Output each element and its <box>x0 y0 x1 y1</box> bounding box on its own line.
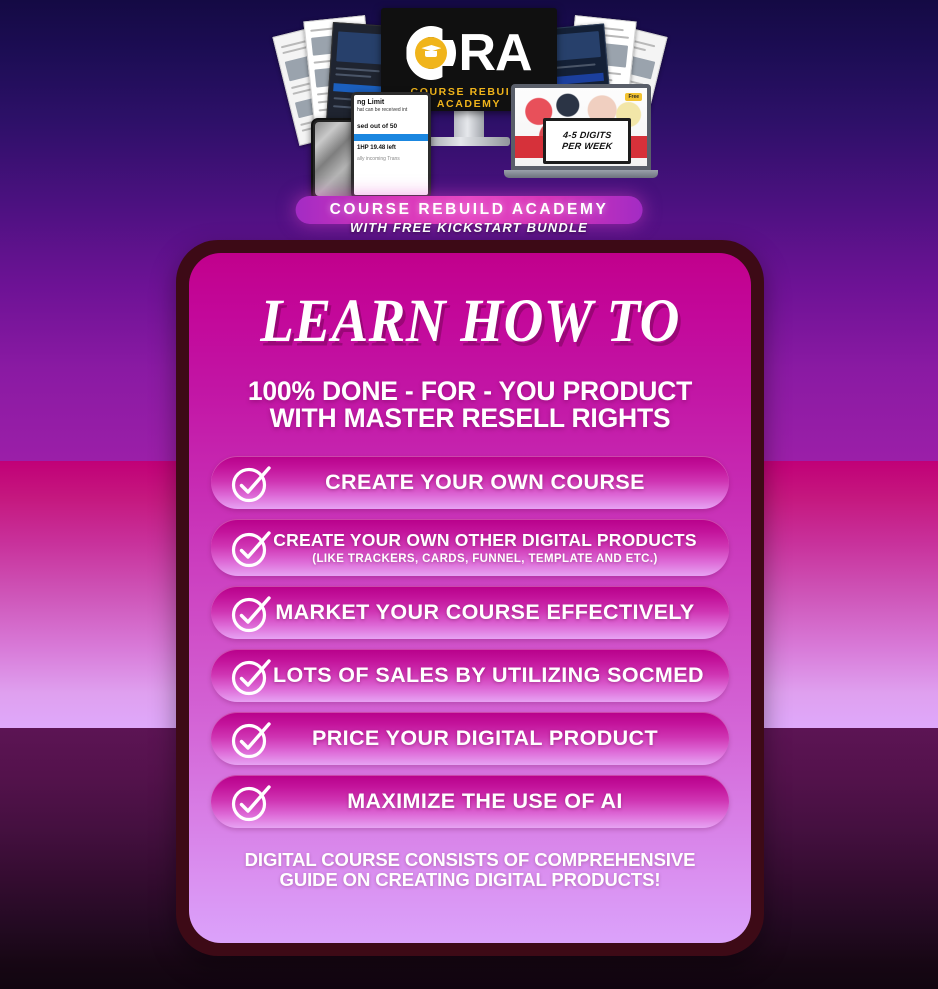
laptop-mockup: Free 4-5 DIGITS PER WEEK <box>511 84 651 178</box>
laptop-base <box>504 170 658 178</box>
laptop-free-tag: Free <box>625 93 642 101</box>
tablet-progress-bar <box>354 134 428 141</box>
list-item[interactable]: MAXIMIZE THE USE OF AI <box>211 775 729 828</box>
check-circle-icon <box>229 461 273 505</box>
list-item-label: CREATE YOUR OWN OTHER DIGITAL PRODUCTS (… <box>273 530 715 565</box>
check-circle-icon <box>229 717 273 761</box>
laptop-callout-card: 4-5 DIGITS PER WEEK <box>543 118 631 164</box>
list-item[interactable]: PRICE YOUR DIGITAL PRODUCT <box>211 712 729 765</box>
check-circle-icon <box>229 780 273 824</box>
logo-letter-c <box>406 26 456 80</box>
offer-card: LEARN HOW TO 100% DONE - FOR - YOU PRODU… <box>176 240 764 956</box>
card-footer-note: DIGITAL COURSE CONSISTS OF COMPREHENSIVE… <box>245 850 696 890</box>
list-item-label: MAXIMIZE THE USE OF AI <box>273 789 715 814</box>
brand-banner-title: COURSE REBUILD ACADEMY <box>330 201 609 218</box>
check-circle-icon <box>229 654 273 698</box>
tablet-mockup: ng Limit hat can be received int sed out… <box>351 92 431 198</box>
benefits-list: CREATE YOUR OWN COURSE CREATE YOUR OWN O… <box>211 456 729 828</box>
tablet-remaining: 1HP 19.48 left <box>354 143 428 153</box>
laptop-callout-line2: PER WEEK <box>561 141 613 152</box>
laptop-red-block-left <box>515 136 545 158</box>
list-item-sublabel: (LIKE TRACKERS, CARDS, FUNNEL, TEMPLATE … <box>273 553 697 565</box>
check-circle-icon <box>229 526 273 570</box>
list-item[interactable]: CREATE YOUR OWN OTHER DIGITAL PRODUCTS (… <box>211 519 729 576</box>
tablet-footer: ally incoming Trans <box>354 153 428 165</box>
monitor-stand-base <box>428 137 510 146</box>
footer-note-line-1: DIGITAL COURSE CONSISTS OF COMPREHENSIVE <box>245 849 696 870</box>
graduation-cap-icon <box>421 45 441 59</box>
monitor-stand-neck <box>454 111 484 137</box>
list-item[interactable]: CREATE YOUR OWN COURSE <box>211 456 729 509</box>
subheadline-line-1: 100% DONE - FOR - YOU PRODUCT <box>248 376 692 406</box>
list-item-label: PRICE YOUR DIGITAL PRODUCT <box>273 726 715 751</box>
check-circle-icon <box>229 591 273 635</box>
tablet-title: ng Limit <box>354 95 428 107</box>
logo-letters-ra: RA <box>458 26 531 80</box>
list-item[interactable]: MARKET YOUR COURSE EFFECTIVELY <box>211 586 729 639</box>
hero-section: RA COURSE REBUILD ACADEMY ng Limit hat c… <box>0 0 938 240</box>
brand-banner-subtitle: WITH FREE KICKSTART BUNDLE <box>0 220 938 235</box>
tablet-meter-label: sed out of 50 <box>354 116 428 132</box>
list-item-label: MARKET YOUR COURSE EFFECTIVELY <box>273 600 715 625</box>
list-item-label: CREATE YOUR OWN COURSE <box>273 470 715 495</box>
list-item-label: LOTS OF SALES BY UTILIZING SOCMED <box>273 663 722 688</box>
phone-screen <box>315 122 355 196</box>
list-item[interactable]: LOTS OF SALES BY UTILIZING SOCMED <box>211 649 729 702</box>
laptop-screen: Free 4-5 DIGITS PER WEEK <box>511 84 651 170</box>
laptop-callout-line1: 4-5 DIGITS <box>562 130 612 141</box>
offer-card-inner: LEARN HOW TO 100% DONE - FOR - YOU PRODU… <box>189 253 751 943</box>
subheadline-line-2: WITH MASTER RESELL RIGHTS <box>248 405 692 432</box>
tablet-subtitle: hat can be received int <box>354 107 428 116</box>
card-headline: LEARN HOW TO <box>260 290 680 352</box>
footer-note-line-2: GUIDE ON CREATING DIGITAL PRODUCTS! <box>245 870 696 890</box>
list-item-label-main: CREATE YOUR OWN OTHER DIGITAL PRODUCTS <box>273 530 696 550</box>
device-collage: RA COURSE REBUILD ACADEMY ng Limit hat c… <box>289 8 649 198</box>
card-subheadline: 100% DONE - FOR - YOU PRODUCT WITH MASTE… <box>248 378 692 432</box>
